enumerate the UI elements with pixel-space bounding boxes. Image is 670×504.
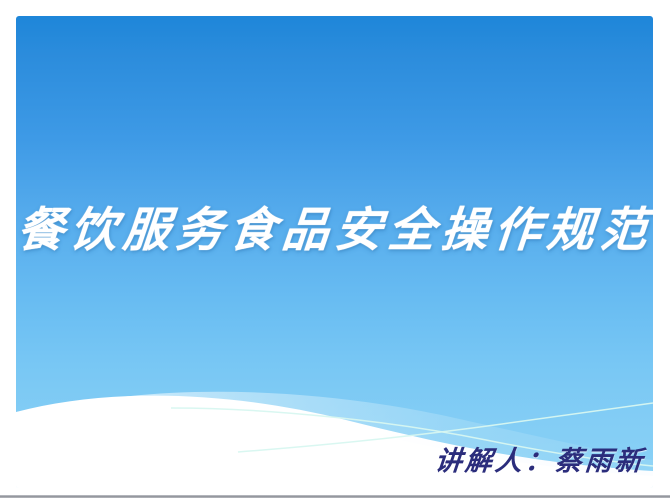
- presenter-line: 讲解人：蔡雨新: [434, 445, 647, 479]
- slide-canvas: 餐饮服务食品安全操作规范 讲解人：蔡雨新: [16, 16, 653, 488]
- presenter-block: 讲解人：蔡雨新: [435, 445, 645, 479]
- slide-page: 餐饮服务食品安全操作规范 讲解人：蔡雨新: [0, 0, 670, 504]
- bottom-rule-divider: [0, 495, 670, 498]
- decorative-wave-layer: [16, 16, 653, 488]
